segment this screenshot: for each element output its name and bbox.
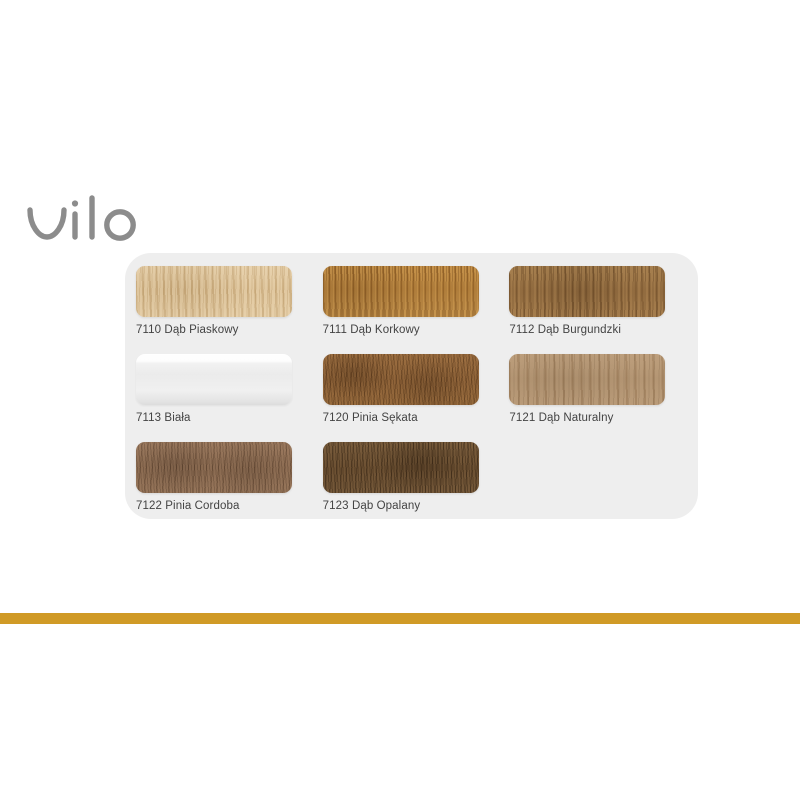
swatch-chip-7113[interactable] [136, 354, 292, 405]
accent-bar [0, 613, 800, 624]
vilo-wordmark-icon [26, 192, 146, 248]
swatch-cell-7122[interactable]: 7122 Pinia Cordoba [136, 442, 323, 530]
swatch-label-7113: 7113 Biała [136, 412, 323, 424]
vilo-logo [26, 192, 146, 248]
wood-grain-texture [323, 354, 479, 405]
swatch-chip-7123[interactable] [323, 442, 479, 493]
swatch-chip-7122[interactable] [136, 442, 292, 493]
swatch-label-7121: 7121 Dąb Naturalny [509, 412, 696, 424]
wood-grain-texture [509, 354, 665, 405]
swatch-chip-7120[interactable] [323, 354, 479, 405]
swatch-label-7111: 7111 Dąb Korkowy [323, 324, 510, 336]
swatch-cell-7120[interactable]: 7120 Pinia Sękata [323, 354, 510, 442]
swatch-label-7122: 7122 Pinia Cordoba [136, 500, 323, 512]
swatch-row: 7122 Pinia Cordoba 7123 Dąb Opalany [136, 442, 696, 530]
swatch-label-7110: 7110 Dąb Piaskowy [136, 324, 323, 336]
swatch-chip-7110[interactable] [136, 266, 292, 317]
wood-grain-texture [323, 266, 479, 317]
swatch-cell-7111[interactable]: 7111 Dąb Korkowy [323, 266, 510, 354]
swatch-label-7112: 7112 Dąb Burgundzki [509, 324, 696, 336]
swatch-cell-7110[interactable]: 7110 Dąb Piaskowy [136, 266, 323, 354]
swatch-chip-7111[interactable] [323, 266, 479, 317]
wood-grain-texture [509, 266, 665, 317]
swatch-cell-7123[interactable]: 7123 Dąb Opalany [323, 442, 510, 530]
swatch-label-7123: 7123 Dąb Opalany [323, 500, 510, 512]
swatch-label-7120: 7120 Pinia Sękata [323, 412, 510, 424]
wood-grain-texture [136, 442, 292, 493]
swatch-grid: 7110 Dąb Piaskowy 7111 Dąb Korkowy 7112 … [136, 266, 696, 530]
swatch-cell-7121[interactable]: 7121 Dąb Naturalny [509, 354, 696, 442]
vilo-o-letter [107, 212, 133, 238]
swatch-chip-7121[interactable] [509, 354, 665, 405]
swatch-chip-7112[interactable] [509, 266, 665, 317]
swatch-card: 7110 Dąb Piaskowy 7111 Dąb Korkowy 7112 … [125, 253, 698, 519]
wood-grain-texture [136, 266, 292, 317]
vilo-i-dot [72, 200, 78, 206]
panel-surface-texture [136, 354, 292, 405]
swatch-row: 7110 Dąb Piaskowy 7111 Dąb Korkowy 7112 … [136, 266, 696, 354]
swatch-cell-7112[interactable]: 7112 Dąb Burgundzki [509, 266, 696, 354]
swatch-row: 7113 Biała 7120 Pinia Sękata 7121 Dąb Na… [136, 354, 696, 442]
wood-grain-texture [323, 442, 479, 493]
swatch-cell-7113[interactable]: 7113 Biała [136, 354, 323, 442]
page-root: 7110 Dąb Piaskowy 7111 Dąb Korkowy 7112 … [0, 0, 800, 800]
